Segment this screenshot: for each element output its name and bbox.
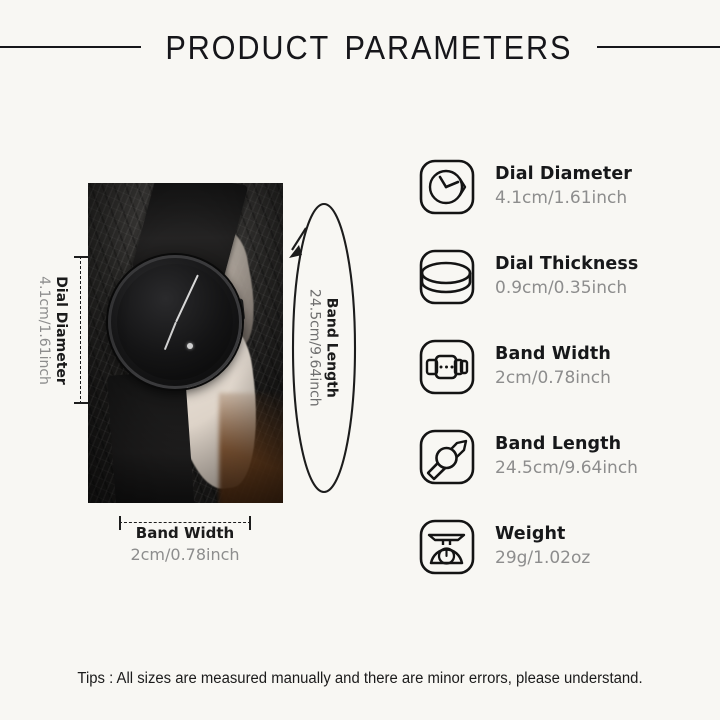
watch-dial-icon — [419, 159, 475, 215]
spec-row-dial-thickness: Dial Thickness 0.9cm/0.35inch — [419, 248, 709, 305]
spec-value-dial-diameter: 4.1cm/1.61inch — [495, 187, 709, 209]
watch-strap-diagonal-icon — [419, 429, 475, 485]
band-width-annotation: Band Width 2cm/0.78inch — [70, 524, 300, 565]
spec-value-band-length: 24.5cm/9.64inch — [495, 457, 709, 479]
spec-row-weight: Weight 29g/1.02oz — [419, 518, 709, 575]
watch-case — [108, 255, 242, 389]
strap-buckle-icon — [419, 339, 475, 395]
minute-hand — [175, 274, 199, 322]
dial-diameter-annotation-value: 4.1cm/1.61inch — [35, 277, 52, 386]
spec-value-band-width: 2cm/0.78inch — [495, 367, 709, 389]
dial-marker-dot — [187, 343, 193, 349]
hour-hand — [164, 322, 177, 351]
spec-label-band-width: Band Width — [495, 344, 709, 366]
spec-row-dial-diameter: Dial Diameter 4.1cm/1.61inch — [419, 158, 709, 215]
spec-row-band-width: Band Width 2cm/0.78inch — [419, 338, 709, 395]
measure-dashed-line — [80, 256, 81, 404]
band-width-annotation-label: Band Width — [70, 524, 300, 544]
page-title: PRODUCT PARAMETERS — [165, 31, 572, 64]
band-width-annotation-value: 2cm/0.78inch — [70, 544, 300, 565]
dial-diameter-annotation-label: Dial Diameter — [52, 277, 69, 386]
band-length-annotation-value: 24.5cm/9.64inch — [306, 289, 323, 407]
spec-label-dial-diameter: Dial Diameter — [495, 164, 709, 186]
product-photo — [88, 183, 283, 503]
product-parameters-page: PRODUCT PARAMETERS Dial Diameter 4.1cm/1… — [0, 0, 720, 720]
footer-tip: Tips : All sizes are measured manually a… — [14, 670, 705, 688]
watch-dial — [117, 264, 233, 380]
spec-text-dial-thickness: Dial Thickness 0.9cm/0.35inch — [495, 254, 709, 299]
band-length-annotation-label: Band Length — [323, 289, 340, 407]
spec-text-band-length: Band Length 24.5cm/9.64inch — [495, 434, 709, 479]
spec-text-dial-diameter: Dial Diameter 4.1cm/1.61inch — [495, 164, 709, 209]
spec-value-weight: 29g/1.02oz — [495, 547, 709, 569]
spec-label-dial-thickness: Dial Thickness — [495, 254, 709, 276]
spec-label-weight: Weight — [495, 524, 709, 546]
dial-diameter-annotation: Dial Diameter 4.1cm/1.61inch — [26, 258, 78, 404]
spec-text-weight: Weight 29g/1.02oz — [495, 524, 709, 569]
title-rule-right — [597, 46, 720, 48]
watch-strap-bottom — [107, 370, 195, 503]
spec-row-band-length: Band Length 24.5cm/9.64inch — [419, 428, 709, 485]
title-rule-left — [0, 46, 141, 48]
page-title-row: PRODUCT PARAMETERS — [0, 24, 720, 70]
kitchen-scale-icon — [419, 519, 475, 575]
spec-text-band-width: Band Width 2cm/0.78inch — [495, 344, 709, 389]
spec-value-dial-thickness: 0.9cm/0.35inch — [495, 277, 709, 299]
spec-label-band-length: Band Length — [495, 434, 709, 456]
photo-warm-corner — [219, 393, 283, 503]
disc-thickness-icon — [419, 249, 475, 305]
band-length-annotation: Band Length 24.5cm/9.64inch — [286, 198, 360, 498]
specification-list: Dial Diameter 4.1cm/1.61inch Dial Thickn… — [419, 158, 709, 575]
measure-dashed-line — [119, 522, 251, 523]
